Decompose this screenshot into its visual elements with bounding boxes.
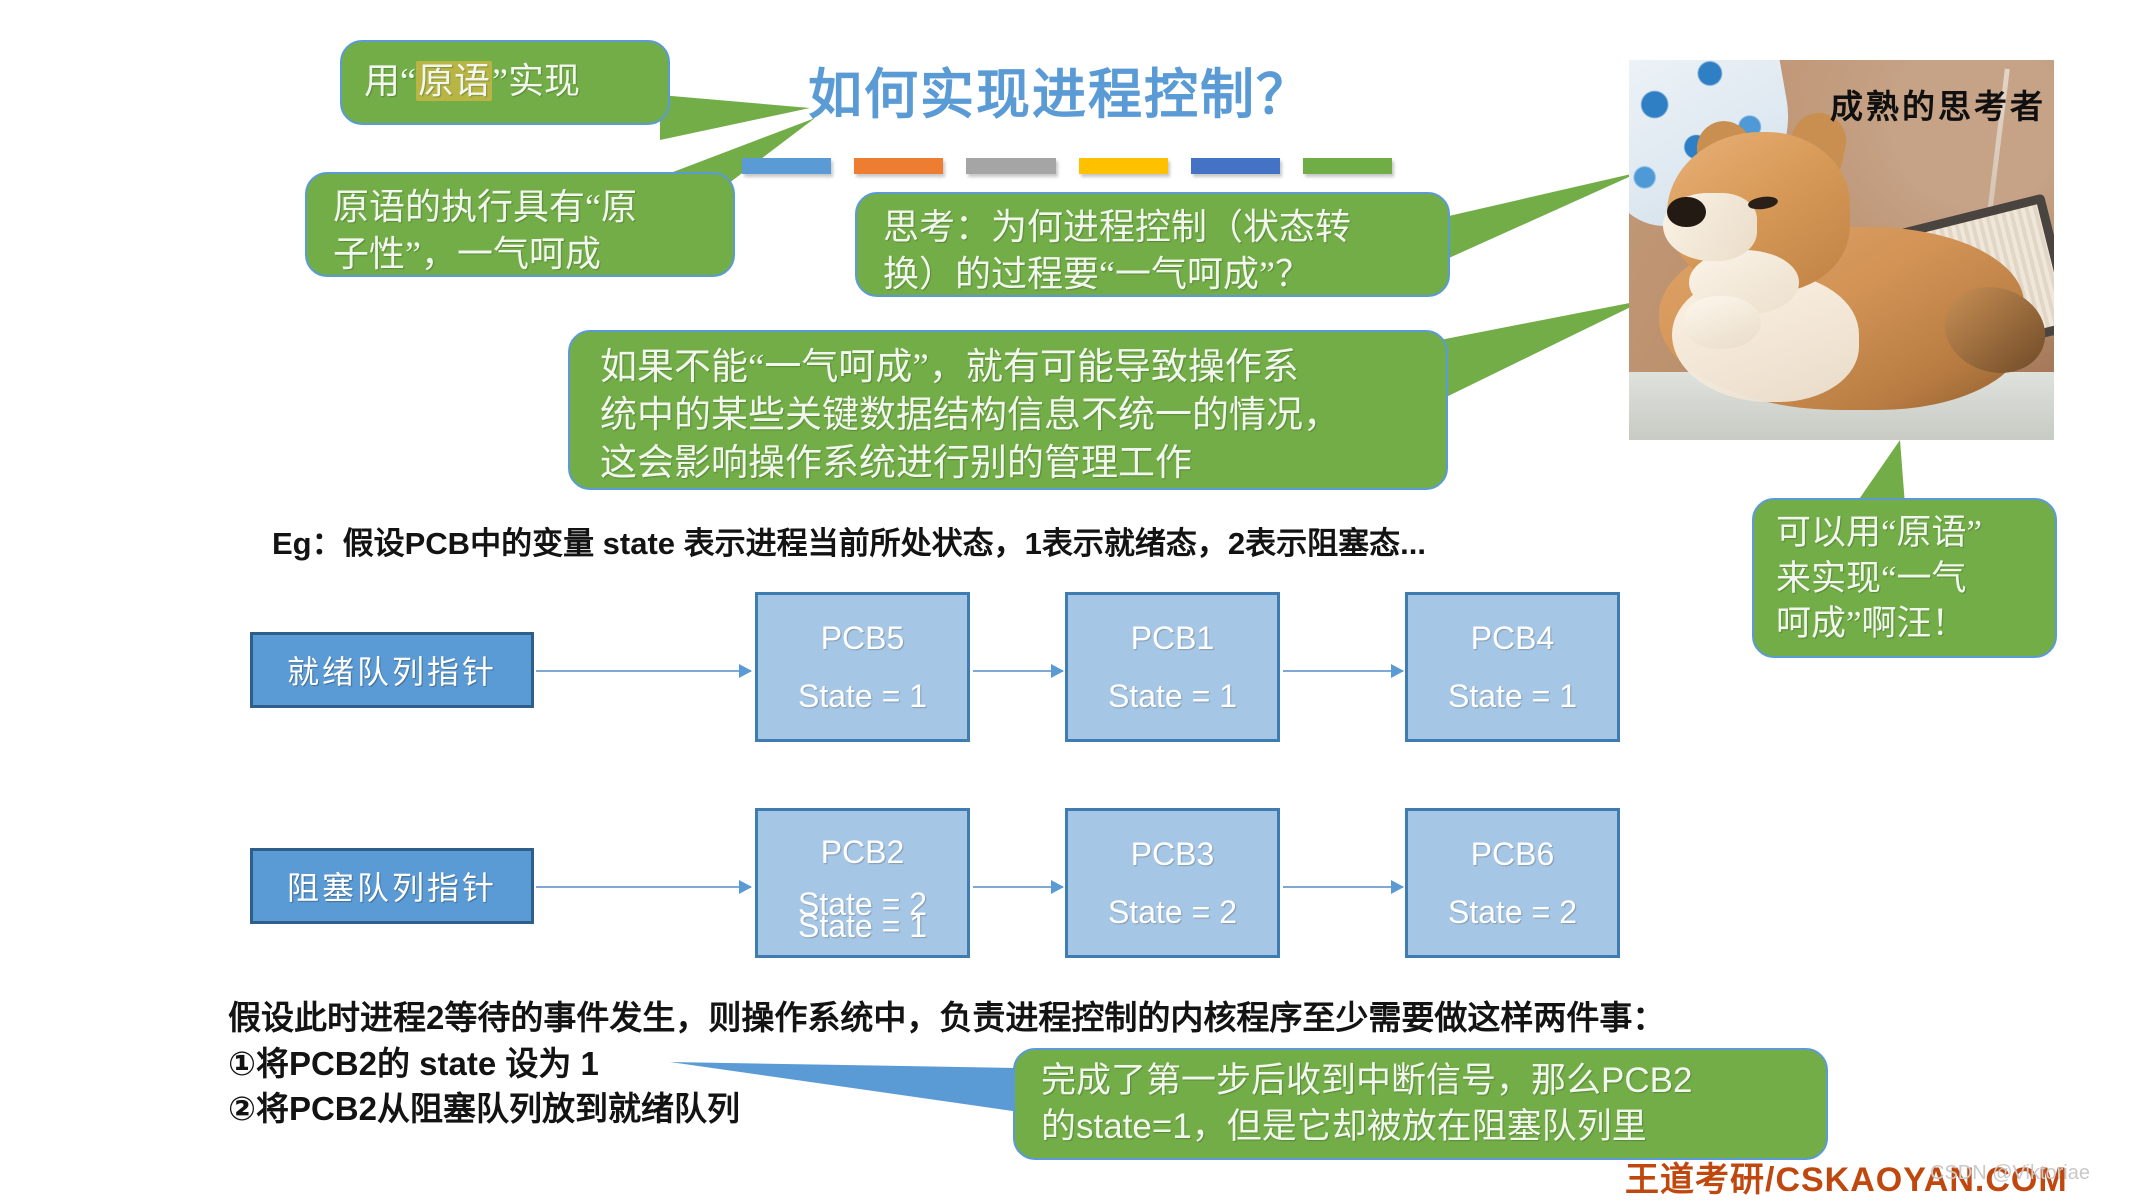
pcb1-title: PCB1 <box>1131 620 1215 657</box>
decorative-color-bars <box>742 158 1392 174</box>
callout-interrupt-line-2: 的state=1，但是它却被放在阻塞队列里 <box>1041 1104 1800 1150</box>
callout-atomicity-line-2: 子性”，一气呵成 <box>333 231 707 278</box>
pcb3-state: State = 2 <box>1108 894 1237 931</box>
pcb4-state: State = 1 <box>1448 678 1577 715</box>
callout-dog-speech: 可以用“原语” 来实现“一气 呵成”啊汪！ <box>1752 498 2057 658</box>
pcb4-title: PCB4 <box>1471 620 1555 657</box>
photo-caption: 成熟的思考者 <box>1830 80 2046 128</box>
conclusion-line-1: 假设此时进程2等待的事件发生，则操作系统中，负责进程控制的内核程序至少需要做这样… <box>228 995 1665 1041</box>
callout-interrupt: 完成了第一步后收到中断信号，那么PCB2 的state=1，但是它却被放在阻塞队… <box>1013 1048 1828 1160</box>
example-statement: Eg：假设PCB中的变量 state 表示进程当前所处状态，1表示就绪态，2表示… <box>272 518 1426 563</box>
pcb2-state-stack: State = 2 State = 1 <box>758 890 967 932</box>
callout-consequence: 如果不能“一气呵成”，就有可能导致操作系 统中的某些关键数据结构信息不统一的情况… <box>568 330 1448 490</box>
callout-atomicity: 原语的执行具有“原 子性”，一气呵成 <box>305 172 735 277</box>
callout-dog-speech-line-3: 呵成”啊汪！ <box>1776 601 2033 647</box>
dog-nose <box>1667 197 1705 227</box>
ready-queue-pointer-label: 就绪队列指针 <box>287 647 497 693</box>
pcb2-title: PCB2 <box>821 834 905 871</box>
bar-orange <box>854 158 943 174</box>
pcb-node-pcb4: PCB4 State = 1 <box>1405 592 1620 742</box>
callout-think-line-2: 换）的过程要“一气呵成”？ <box>883 251 1422 298</box>
arrow-pcb5-to-pcb1 <box>973 670 1063 672</box>
callout-interrupt-line-1: 完成了第一步后收到中断信号，那么PCB2 <box>1041 1058 1800 1104</box>
callout-primitive-highlight: 原语 <box>416 61 492 101</box>
callout-atomicity-line-1: 原语的执行具有“原 <box>333 184 707 231</box>
pcb-node-pcb3: PCB3 State = 2 <box>1065 808 1280 958</box>
blocked-queue-pointer-label: 阻塞队列指针 <box>287 863 497 909</box>
pcb5-title: PCB5 <box>821 620 905 657</box>
pcb-node-pcb1: PCB1 State = 1 <box>1065 592 1280 742</box>
watermark-csdn: CSDN @Viktoriae <box>1930 1162 2090 1185</box>
arrow-pcb1-to-pcb4 <box>1283 670 1403 672</box>
pcb6-title: PCB6 <box>1471 836 1555 873</box>
bar-darkblue <box>1191 158 1280 174</box>
dog-paw <box>1684 296 1761 349</box>
bar-yellow <box>1079 158 1168 174</box>
pcb-node-pcb2: PCB2 State = 2 State = 1 <box>755 808 970 958</box>
arrow-ready-to-pcb5 <box>536 670 751 672</box>
blocked-queue-pointer: 阻塞队列指针 <box>250 848 534 924</box>
slide-canvas: 如何实现进程控制？ 用“原语”实现 原语的执行具有“原 子性”，一气呵成 思考：… <box>0 0 2148 1200</box>
callout-dog-speech-line-1: 可以用“原语” <box>1776 510 2033 556</box>
pcb6-state: State = 2 <box>1448 894 1577 931</box>
pcb-node-pcb5: PCB5 State = 1 <box>755 592 970 742</box>
bar-blue <box>742 158 831 174</box>
ready-queue-pointer: 就绪队列指针 <box>250 632 534 708</box>
pcb1-state: State = 1 <box>1108 678 1237 715</box>
arrow-pcb2-to-pcb3 <box>973 886 1063 888</box>
pcb5-state: State = 1 <box>798 678 927 715</box>
callout-primitive: 用“原语”实现 <box>340 40 670 125</box>
pcb2-state-overlay: State = 1 <box>758 908 967 945</box>
arrow-pcb3-to-pcb6 <box>1283 886 1403 888</box>
page-title: 如何实现进程控制？ <box>700 50 1420 129</box>
callout-primitive-post: ”实现 <box>492 61 580 101</box>
bar-gray <box>966 158 1055 174</box>
arrow-blocked-to-pcb2 <box>536 886 751 888</box>
callout-dog-speech-line-2: 来实现“一气 <box>1776 556 2033 602</box>
callout-consequence-line-3: 这会影响操作系统进行别的管理工作 <box>600 440 1416 488</box>
callout-consequence-line-1: 如果不能“一气呵成”，就有可能导致操作系 <box>600 344 1416 392</box>
pcb-node-pcb6: PCB6 State = 2 <box>1405 808 1620 958</box>
callout-think-line-1: 思考：为何进程控制（状态转 <box>883 204 1422 251</box>
bar-green <box>1303 158 1392 174</box>
callout-consequence-line-2: 统中的某些关键数据结构信息不统一的情况， <box>600 392 1416 440</box>
pcb3-title: PCB3 <box>1131 836 1215 873</box>
shiba-inu-photo: 成熟的思考者 <box>1629 60 2054 440</box>
callout-think: 思考：为何进程控制（状态转 换）的过程要“一气呵成”？ <box>855 192 1450 297</box>
callout-primitive-pre: 用“ <box>364 61 416 101</box>
